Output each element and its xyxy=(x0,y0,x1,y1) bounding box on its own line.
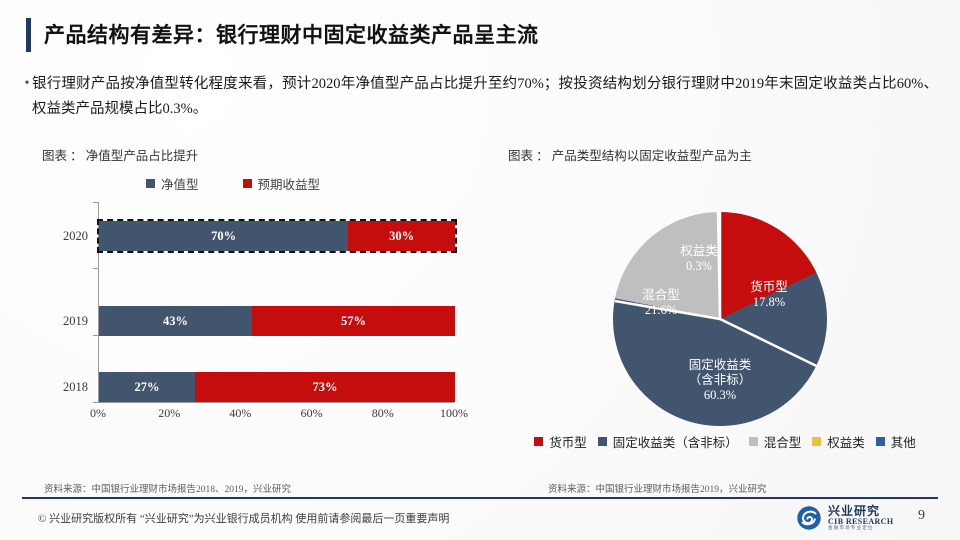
bullet-paragraph: • 银行理财产品按净值型转化程度来看，预计2020年净值型产品占比提升至约70%… xyxy=(22,72,938,122)
pie-label-money-name: 货币型 xyxy=(728,280,810,295)
footer-disclaimer: © 兴业研究版权所有 “兴业研究”为兴业银行成员机构 使用前请参阅最后一页重要声… xyxy=(38,510,449,526)
pie-label-fixed-name-2: （含非标） xyxy=(660,373,780,388)
legend-item-netvalue: 净值型 xyxy=(146,174,199,193)
pie-label-mixed-name: 混合型 xyxy=(618,288,704,303)
slide-canvas: 产品结构有差异：银行理财中固定收益类产品呈主流 • 银行理财产品按净值型转化程度… xyxy=(0,0,960,540)
pie-label-equity-name: 权益类 xyxy=(656,244,742,259)
x-tick-label: 100% xyxy=(440,406,468,421)
legend-label-netvalue: 净值型 xyxy=(161,174,199,193)
bar-segment-netvalue-2019: 43% xyxy=(99,306,252,336)
cib-research-logo: 兴业研究 CIB RESEARCH 金融市场专业定位 xyxy=(796,505,893,531)
pie-label-mixed-value: 21.6% xyxy=(618,303,704,318)
pie-label-equity: 权益类 0.3% xyxy=(656,244,742,274)
legend-label-money: 货币型 xyxy=(549,432,587,451)
title-divider xyxy=(26,56,934,57)
legend-label-mixed: 混合型 xyxy=(764,432,802,451)
legend-label-fixed: 固定收益类（含非标） xyxy=(613,432,738,451)
legend-item-mixed: 混合型 xyxy=(749,432,802,451)
x-tick-label: 80% xyxy=(372,406,394,421)
table-row: 43% 57% xyxy=(99,306,455,336)
legend-label-other: 其他 xyxy=(891,432,916,451)
bullet-text: 银行理财产品按净值型转化程度来看，预计2020年净值型产品占比提升至约70%；按… xyxy=(32,72,938,122)
bar-value-label: 57% xyxy=(252,306,455,336)
logo-name-cn: 兴业研究 xyxy=(828,505,893,518)
table-row: 27% 73% xyxy=(99,372,455,402)
bullet-dot-icon: • xyxy=(22,72,32,96)
bar-value-label: 73% xyxy=(195,372,455,402)
x-tick-label: 20% xyxy=(158,406,180,421)
pie-label-equity-value: 0.3% xyxy=(656,259,742,274)
x-tick-label: 0% xyxy=(90,406,106,421)
legend-label-expected: 预期收益型 xyxy=(258,174,321,193)
left-chart-source: 资料来源：中国银行业理财市场报告2018、2019，兴业研究 xyxy=(44,481,291,495)
pie-chart: 权益类 0.3% 混合型 21.6% 货币型 17.8% 固定收益类 （含非标）… xyxy=(500,170,950,450)
legend-item-fixed: 固定收益类（含非标） xyxy=(598,432,738,451)
legend-item-equity: 权益类 xyxy=(812,432,865,451)
y-tick xyxy=(93,202,98,203)
y-tick xyxy=(93,335,98,336)
bar-segment-expected-2020: 30% xyxy=(348,221,455,251)
right-chart-caption: 图表 ： 产品类型结构以固定收益型产品为主 xyxy=(508,145,752,164)
legend-item-expected: 预期收益型 xyxy=(243,174,321,193)
spiral-logo-icon xyxy=(796,505,822,531)
left-chart-caption: 图表 ： 净值型产品占比提升 xyxy=(42,145,198,164)
legend-swatch-equity xyxy=(812,437,821,446)
x-tick-label: 60% xyxy=(301,406,323,421)
x-axis-ticks: 0% 20% 40% 60% 80% 100% xyxy=(98,406,454,424)
legend-label-equity: 权益类 xyxy=(827,432,865,451)
pie-label-fixed-value: 60.3% xyxy=(660,388,780,403)
bar-segment-expected-2019: 57% xyxy=(252,306,455,336)
bar-category-label-2019: 2019 xyxy=(40,306,88,336)
pie-label-mixed: 混合型 21.6% xyxy=(618,288,704,318)
bar-segment-netvalue-2020: 70% xyxy=(99,221,348,251)
legend-swatch-fixed xyxy=(598,437,607,446)
x-tick-label: 40% xyxy=(229,406,251,421)
pie-label-fixed-name-1: 固定收益类 xyxy=(660,358,780,373)
y-tick xyxy=(93,268,98,269)
legend-swatch-money xyxy=(534,437,543,446)
legend-swatch-expected xyxy=(243,179,252,188)
legend-item-money: 货币型 xyxy=(534,432,587,451)
bar-value-label: 70% xyxy=(99,221,348,251)
bar-value-label: 27% xyxy=(99,372,195,402)
table-row: 70% 30% xyxy=(99,221,455,251)
logo-wordmark: 兴业研究 CIB RESEARCH 金融市场专业定位 xyxy=(828,505,893,531)
bar-category-label-2018: 2018 xyxy=(40,372,88,402)
page-title: 产品结构有差异：银行理财中固定收益类产品呈主流 xyxy=(44,19,539,49)
legend-swatch-other xyxy=(876,437,885,446)
legend-item-other: 其他 xyxy=(876,432,916,451)
bar-value-label: 43% xyxy=(99,306,252,336)
stacked-bar-chart: 净值型 预期收益型 2020 70% 30% xyxy=(34,170,484,450)
legend-swatch-mixed xyxy=(749,437,758,446)
footer-divider xyxy=(22,497,938,499)
bar-category-label-2020: 2020 xyxy=(40,221,88,251)
pie-label-money-value: 17.8% xyxy=(728,295,810,310)
title-accent-bar xyxy=(26,18,31,52)
pie-label-fixed: 固定收益类 （含非标） 60.3% xyxy=(660,358,780,403)
legend-swatch-netvalue xyxy=(146,179,155,188)
logo-tagline: 金融市场专业定位 xyxy=(828,526,893,531)
bar-plot-area: 2020 70% 30% 2019 43% 57% xyxy=(98,202,454,402)
pie-label-money: 货币型 17.8% xyxy=(728,280,810,310)
bar-chart-legend: 净值型 预期收益型 xyxy=(146,174,320,193)
bar-segment-netvalue-2018: 27% xyxy=(99,372,195,402)
bar-segment-expected-2018: 73% xyxy=(195,372,455,402)
right-chart-source: 资料来源：中国银行业理财市场报告2019，兴业研究 xyxy=(548,481,767,495)
page-number: 9 xyxy=(918,508,925,524)
pie-chart-legend: 货币型 固定收益类（含非标） 混合型 权益类 其他 xyxy=(500,432,950,451)
x-axis-line xyxy=(98,402,454,403)
bar-value-label: 30% xyxy=(348,221,455,251)
